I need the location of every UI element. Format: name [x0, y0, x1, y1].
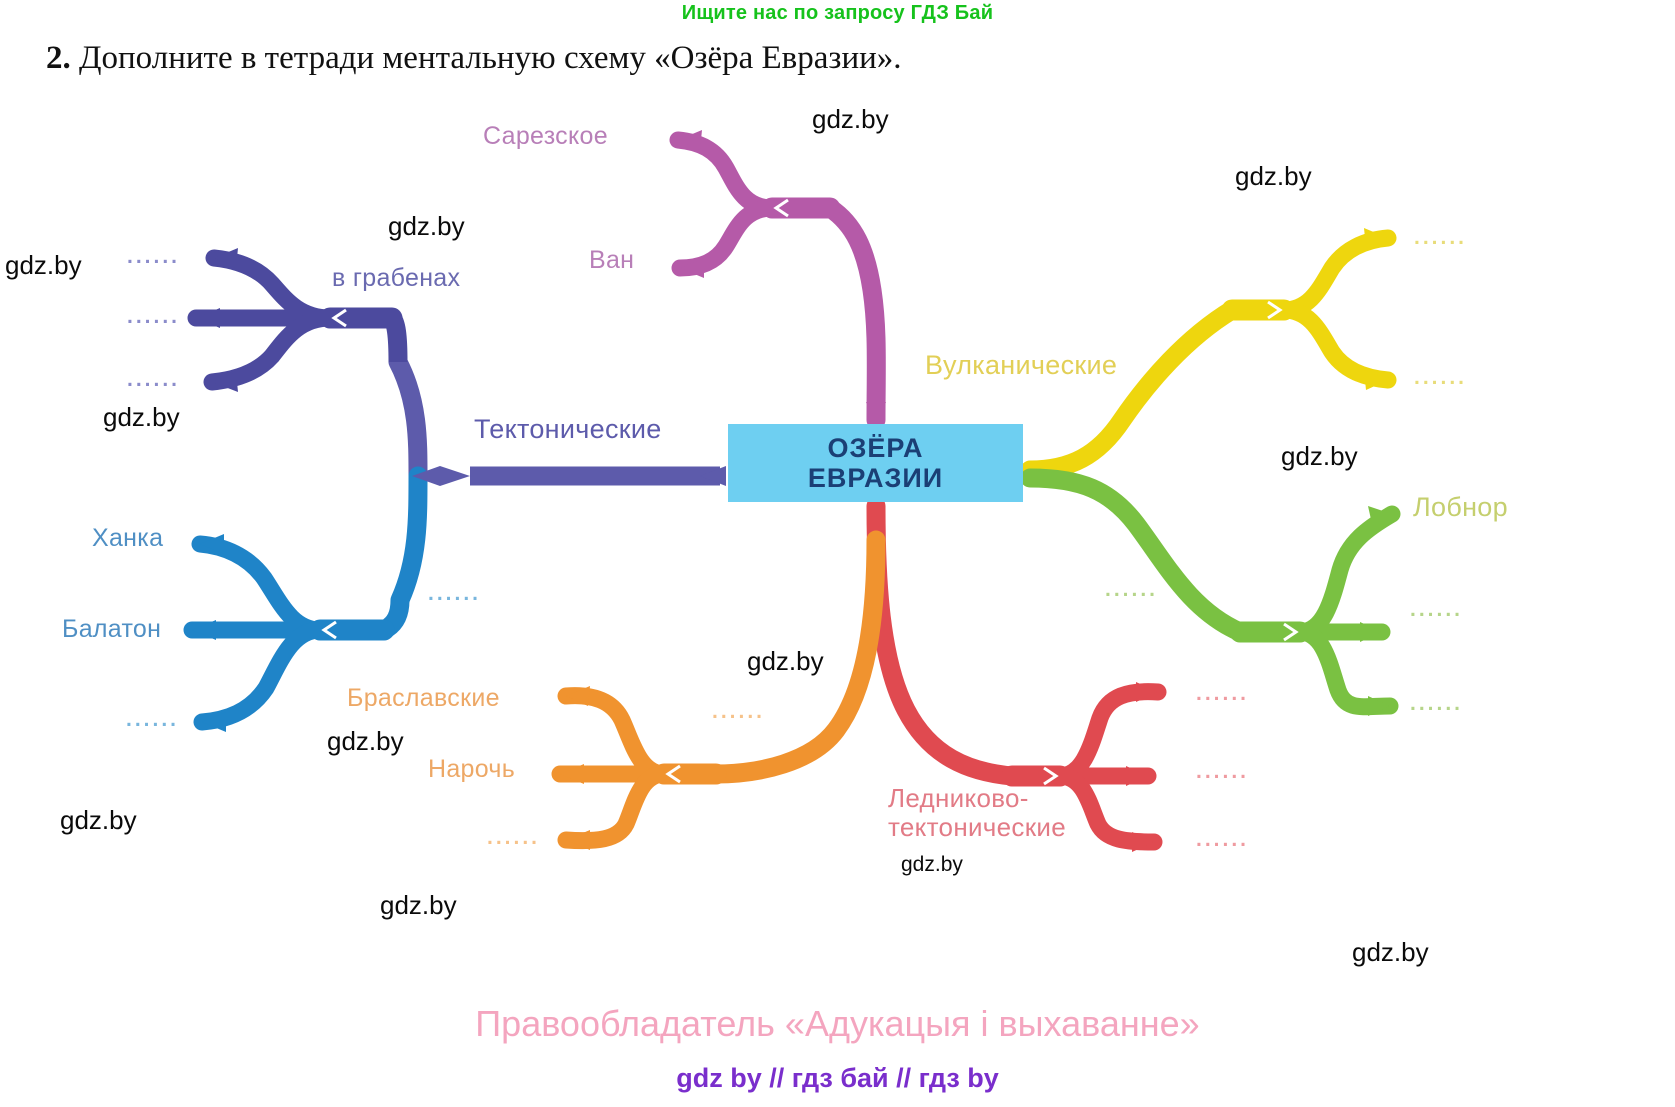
placeholder-blue-3[interactable]: ......	[126, 708, 179, 732]
watermark-8: gdz.by	[60, 805, 137, 836]
watermark-10: gdz.by	[380, 890, 457, 921]
watermark-11: gdz.by	[1352, 937, 1429, 968]
leaf-van: Ван	[589, 246, 634, 275]
mindmap-page: Ищите нас по запросу ГДЗ Бай 2. Дополнит…	[0, 0, 1675, 1107]
placeholder-graben-1[interactable]: ......	[127, 245, 180, 269]
placeholder-blue-branch-name[interactable]: ......	[428, 582, 481, 606]
placeholder-orange-3[interactable]: ......	[487, 826, 540, 850]
footer-copyright: Правообладатель «Адукацыя і выхаванне»	[0, 1003, 1675, 1045]
leaf-balaton: Балатон	[62, 615, 161, 644]
placeholder-red-1[interactable]: ......	[1196, 682, 1249, 706]
watermark-5: gdz.by	[1281, 441, 1358, 472]
watermark-9: gdz.by	[901, 853, 963, 877]
label-glacial-tectonic: Ледниково- тектонические	[888, 784, 1066, 842]
leaf-sarezskoe: Сарезское	[483, 122, 608, 151]
leaf-naroch: Нарочь	[428, 755, 515, 784]
leaf-lobnor: Лобнор	[1413, 492, 1508, 523]
watermark-3: gdz.by	[812, 104, 889, 135]
watermark-0: gdz.by	[5, 250, 82, 281]
label-glacial-line2: тектонические	[888, 812, 1066, 842]
footer-links: gdz by // гдз бай // гдз by	[0, 1063, 1675, 1094]
center-node[interactable]: ОЗЁРА ЕВРАЗИИ	[728, 424, 1023, 502]
placeholder-yellow-2[interactable]: ......	[1414, 366, 1467, 390]
leaf-khanka: Ханка	[92, 524, 163, 553]
placeholder-orange-stem[interactable]: ......	[712, 700, 765, 724]
leaf-braslavskie: Браславские	[347, 684, 500, 713]
watermark-1: gdz.by	[388, 211, 465, 242]
placeholder-red-2[interactable]: ......	[1196, 760, 1249, 784]
placeholder-graben-3[interactable]: ......	[127, 368, 180, 392]
placeholder-green-2[interactable]: ......	[1410, 598, 1463, 622]
branch-volcanic-yellow	[1030, 228, 1388, 470]
branch-orange	[560, 540, 876, 850]
branch-tectonic	[398, 362, 726, 600]
center-line-2: ЕВРАЗИИ	[808, 463, 943, 494]
label-tectonic: Тектонические	[474, 414, 662, 445]
watermark-4: gdz.by	[1235, 161, 1312, 192]
center-line-1: ОЗЁРА	[827, 433, 923, 464]
placeholder-yellow-1[interactable]: ......	[1414, 226, 1467, 250]
placeholder-graben-2[interactable]: ......	[127, 305, 180, 329]
label-volcanic: Вулканические	[925, 350, 1117, 381]
watermark-2: gdz.by	[103, 402, 180, 433]
watermark-7: gdz.by	[327, 726, 404, 757]
branch-green	[1030, 478, 1392, 716]
watermark-6: gdz.by	[747, 646, 824, 677]
label-graben: в грабенах	[332, 264, 460, 293]
placeholder-green-3[interactable]: ......	[1410, 692, 1463, 716]
placeholder-green-stem[interactable]: ......	[1105, 578, 1158, 602]
label-glacial-line1: Ледниково-	[888, 783, 1029, 813]
placeholder-red-3[interactable]: ......	[1196, 828, 1249, 852]
branch-volcanic-magenta	[678, 130, 886, 427]
